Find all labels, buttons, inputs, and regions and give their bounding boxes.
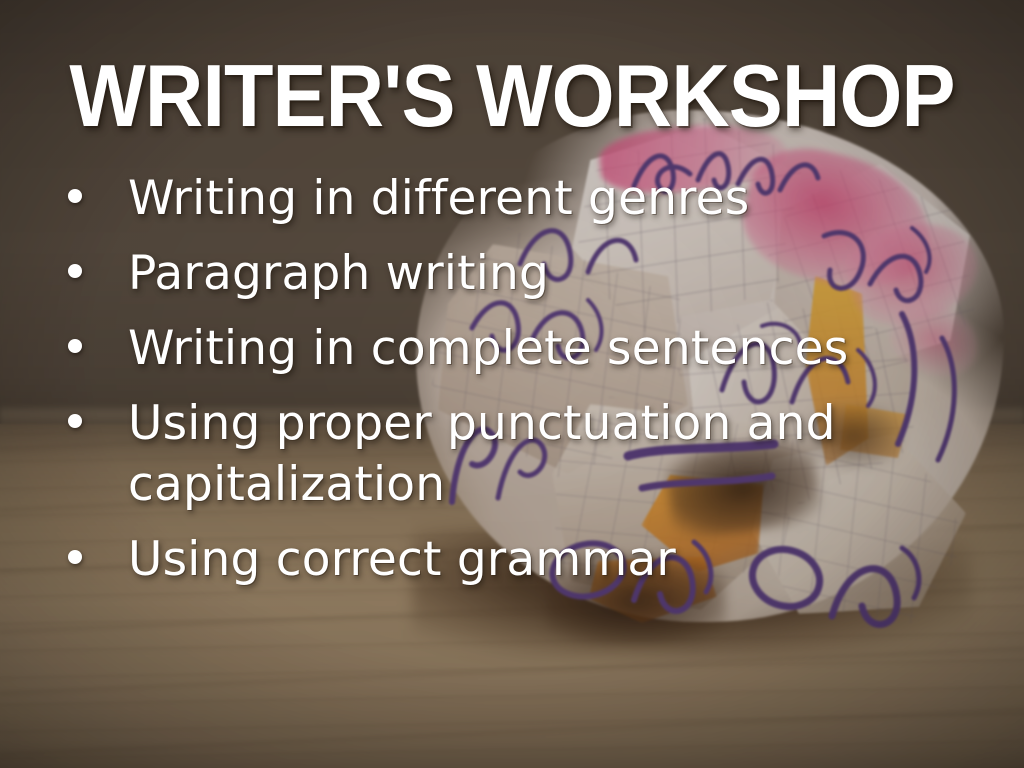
bullet-dot-icon — [68, 414, 82, 428]
bullet-text: Using proper punctuation and capitalizat… — [128, 396, 836, 512]
bullet-dot-icon — [68, 189, 82, 203]
bullet-dot-icon — [68, 264, 82, 278]
bullet-item: Writing in complete sentences — [58, 318, 958, 379]
bullet-dot-icon — [68, 550, 82, 564]
bullet-dot-icon — [68, 339, 82, 353]
bullet-item: Paragraph writing — [58, 243, 958, 304]
slide-content: WRITER'S WORKSHOP Writing in different g… — [0, 0, 1024, 768]
bullet-text: Paragraph writing — [128, 246, 549, 301]
bullet-text: Writing in different genres — [128, 171, 749, 226]
bullet-list: Writing in different genres Paragraph wr… — [58, 168, 958, 605]
presentation-slide: WRITER'S WORKSHOP Writing in different g… — [0, 0, 1024, 768]
bullet-item: Writing in different genres — [58, 168, 958, 229]
bullet-text: Writing in complete sentences — [128, 321, 848, 376]
slide-title: WRITER'S WORKSHOP — [41, 52, 983, 140]
bullet-text: Using correct grammar — [128, 532, 676, 587]
bullet-item: Using correct grammar — [58, 529, 958, 590]
bullet-item: Using proper punctuation and capitalizat… — [58, 393, 928, 515]
